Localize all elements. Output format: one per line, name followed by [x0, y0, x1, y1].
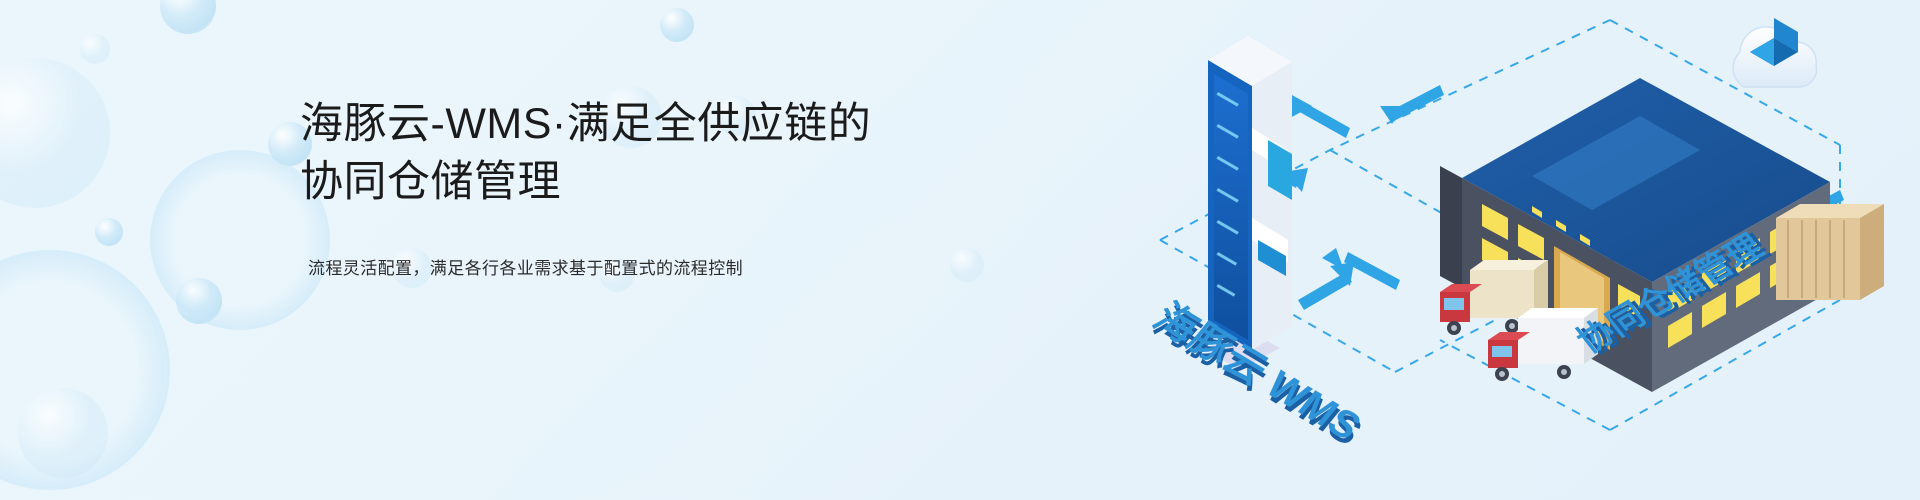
bubble-icon	[160, 0, 216, 34]
warehouse-illustration: 海豚云 WMS 海豚云 WMS 协同仓储管理 协同仓储管理	[1140, 0, 1920, 500]
bubble-icon	[18, 388, 108, 478]
bubble-icon	[950, 248, 984, 282]
bubble-icon	[176, 278, 222, 324]
bubble-icon	[0, 58, 110, 208]
hero-banner: 海豚云-WMS·满足全供应链的 协同仓储管理 流程灵活配置，满足各行各业需求基于…	[0, 0, 1920, 500]
bubble-icon	[660, 8, 694, 42]
hero-copy: 海豚云-WMS·满足全供应链的 协同仓储管理 流程灵活配置，满足各行各业需求基于…	[300, 96, 920, 282]
bubble-icon	[0, 250, 170, 490]
server-rack-icon	[1204, 36, 1292, 370]
bubble-icon	[80, 34, 110, 64]
page-title: 海豚云-WMS·满足全供应链的 协同仓储管理	[300, 96, 920, 211]
cloud-upload-icon	[1733, 18, 1816, 87]
shipping-container-icon	[1776, 204, 1884, 300]
bubble-icon	[95, 218, 123, 246]
page-subtitle: 流程灵活配置，满足各行各业需求基于配置式的流程控制	[308, 255, 920, 282]
